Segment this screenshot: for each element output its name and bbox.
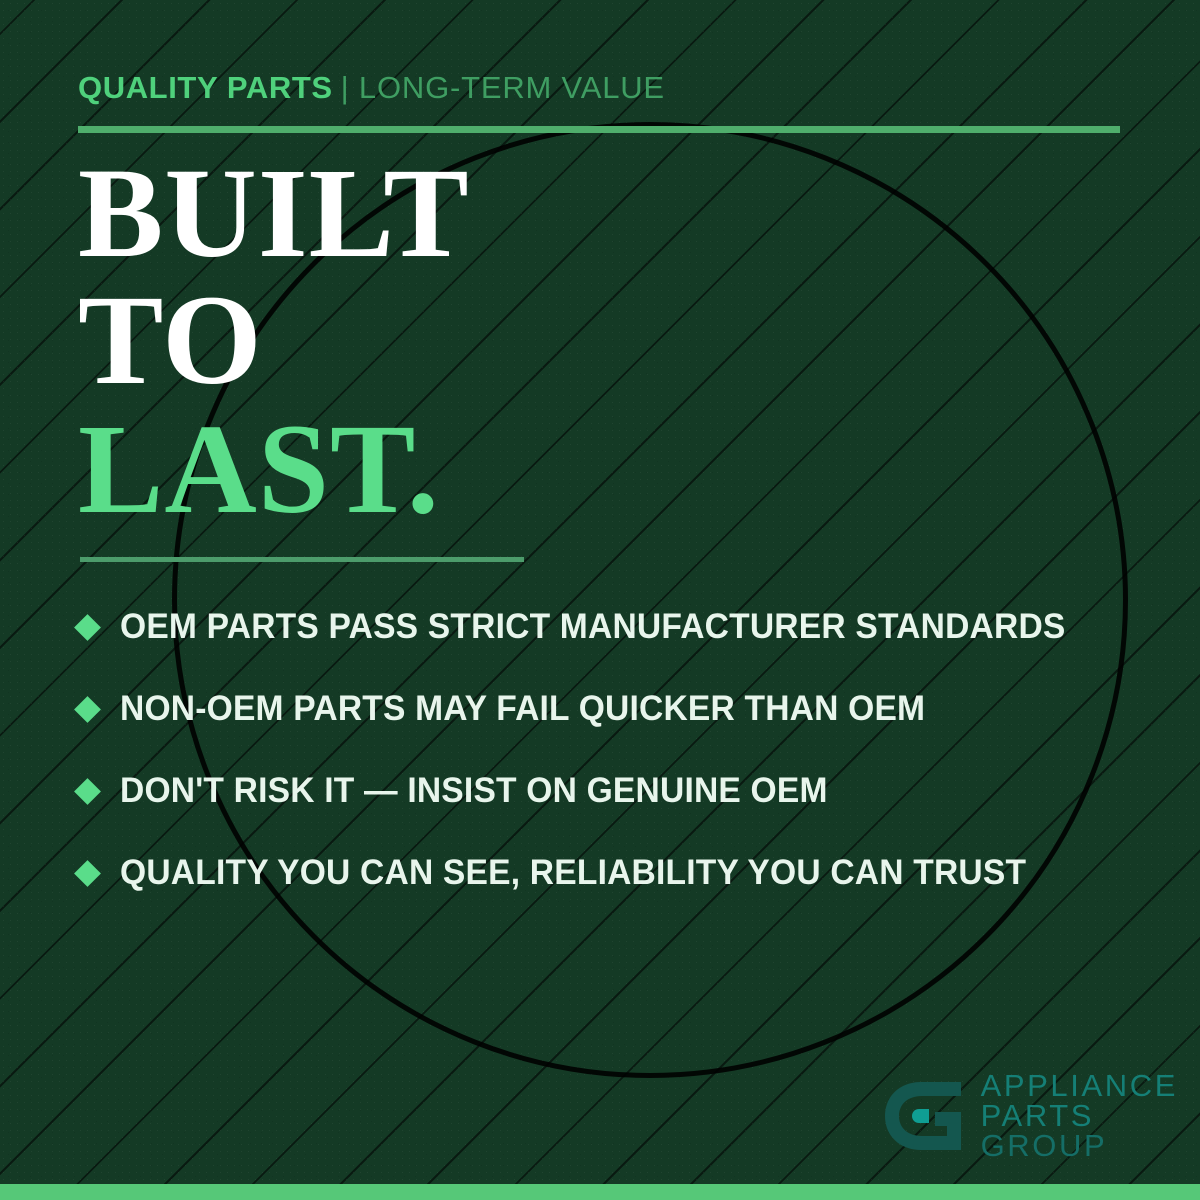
list-item: OEM PARTS PASS STRICT MANUFACTURER STAND… [78, 586, 1148, 668]
headline-line-2: TO [78, 279, 470, 402]
logo-line-1: APPLIANCE [981, 1071, 1178, 1101]
list-item: QUALITY YOU CAN SEE, RELIABILITY YOU CAN… [78, 832, 1148, 914]
diamond-bullet-icon [74, 860, 101, 887]
diamond-bullet-icon [74, 614, 101, 641]
brand-wordmark: APPLIANCE PARTS GROUP [981, 1071, 1178, 1160]
eyebrow-kicker: QUALITY PARTS| LONG-TERM VALUE [78, 72, 665, 103]
headline-underline-rule [80, 557, 524, 562]
list-item: DON'T RISK IT — INSIST ON GENUINE OEM [78, 750, 1148, 832]
eyebrow-strong-text: QUALITY PARTS [78, 70, 333, 105]
brand-logo-lockup: APPLIANCE PARTS GROUP [873, 1068, 1178, 1164]
top-divider-rule [78, 126, 1120, 133]
logo-line-2: PARTS [981, 1101, 1178, 1131]
logo-line-3: GROUP [981, 1131, 1178, 1161]
bullet-text: OEM PARTS PASS STRICT MANUFACTURER STAND… [120, 607, 1066, 647]
diamond-bullet-icon [74, 696, 101, 723]
headline-line-1: BUILT [78, 152, 470, 275]
headline-line-3-accent: LAST. [78, 408, 470, 531]
headline: BUILT TO LAST. [78, 152, 470, 531]
diamond-bullet-icon [74, 778, 101, 805]
list-item: NON-OEM PARTS MAY FAIL QUICKER THAN OEM [78, 668, 1148, 750]
promo-poster: QUALITY PARTS| LONG-TERM VALUE BUILT TO … [0, 0, 1200, 1200]
bullet-text: NON-OEM PARTS MAY FAIL QUICKER THAN OEM [120, 689, 925, 729]
appliance-parts-group-g-mark-icon [873, 1068, 969, 1164]
bullet-text: DON'T RISK IT — INSIST ON GENUINE OEM [120, 771, 828, 811]
bullet-text: QUALITY YOU CAN SEE, RELIABILITY YOU CAN… [120, 853, 1026, 893]
bottom-accent-bar [0, 1184, 1200, 1200]
poster-content: QUALITY PARTS| LONG-TERM VALUE BUILT TO … [0, 0, 1200, 1200]
benefit-bullet-list: OEM PARTS PASS STRICT MANUFACTURER STAND… [78, 586, 1148, 914]
eyebrow-sub-text: | LONG-TERM VALUE [341, 70, 665, 105]
